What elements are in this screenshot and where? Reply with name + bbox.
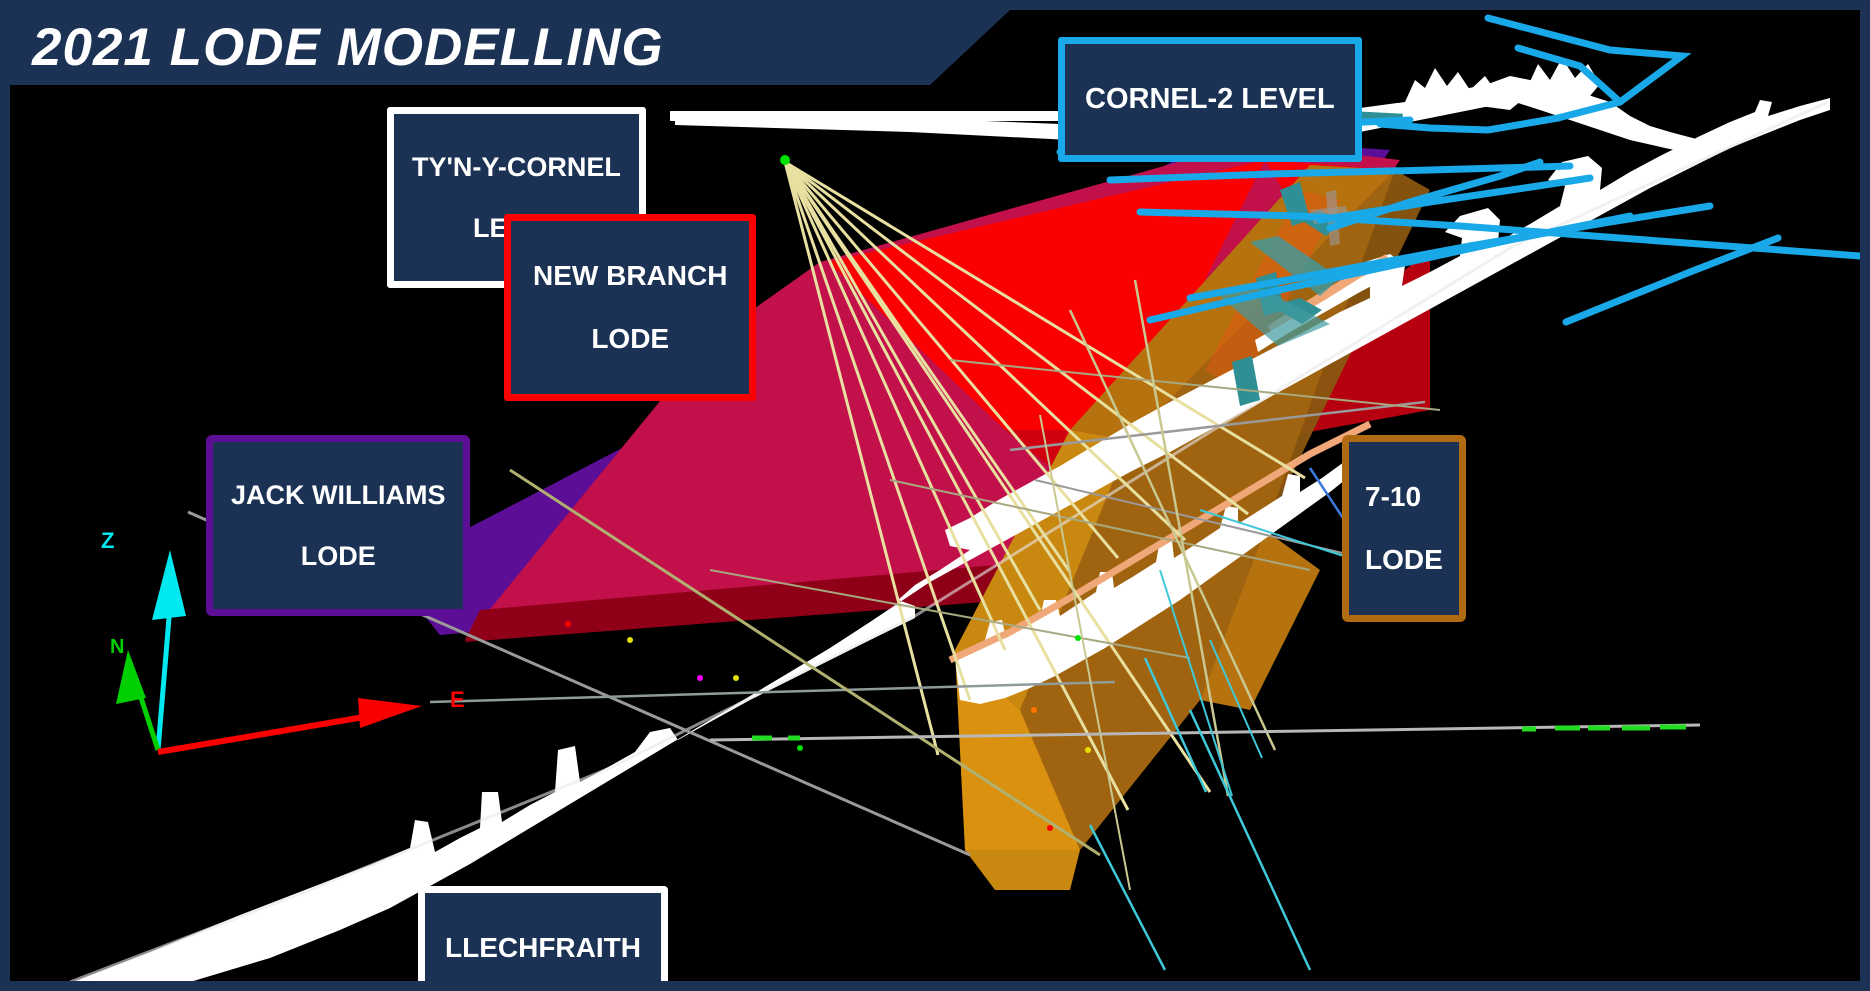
callout-line-1: CORNEL-2 LEVEL [1085,83,1335,115]
e-axis-arrowhead [358,698,422,728]
callout-line-1: 7-10 [1365,481,1443,512]
callout-new-branch-lode[interactable]: NEW BRANCH LODE [504,214,756,401]
callout-llechfraith-level[interactable]: LLECHFRAITH LEVEL [418,886,668,981]
axis-label-z: Z [101,528,114,554]
callout-line-1: JACK WILLIAMS [231,480,445,510]
callout-line-1: LLECHFRAITH [445,932,641,963]
callout-7-10-lode[interactable]: 7-10 LODE [1342,435,1466,622]
e-axis-line [158,716,370,752]
page-title: 2021 LODE MODELLING [32,17,664,78]
callout-cornel-2-level[interactable]: CORNEL-2 LEVEL [1058,37,1362,162]
callout-line-1: NEW BRANCH [533,260,727,291]
axis-label-n: N [110,636,124,659]
axis-label-e: E [450,687,465,713]
z-axis-arrowhead [152,550,186,620]
3d-viewport[interactable]: Z N E TY'N-Y-CORNEL LEVEL CORNEL-2 LEVEL… [10,10,1860,981]
drillhole-collar-marker [780,155,790,165]
application-window: Z N E TY'N-Y-CORNEL LEVEL CORNEL-2 LEVEL… [0,0,1870,991]
callout-line-2: LODE [231,541,445,571]
title-banner: 2021 LODE MODELLING [10,10,1010,85]
callout-line-1: TY'N-Y-CORNEL [412,152,621,182]
z-axis-line [158,606,170,750]
callout-jack-williams-lode[interactable]: JACK WILLIAMS LODE [206,435,470,616]
callout-line-2: LODE [533,323,727,354]
callout-line-2: LODE [1365,544,1443,575]
